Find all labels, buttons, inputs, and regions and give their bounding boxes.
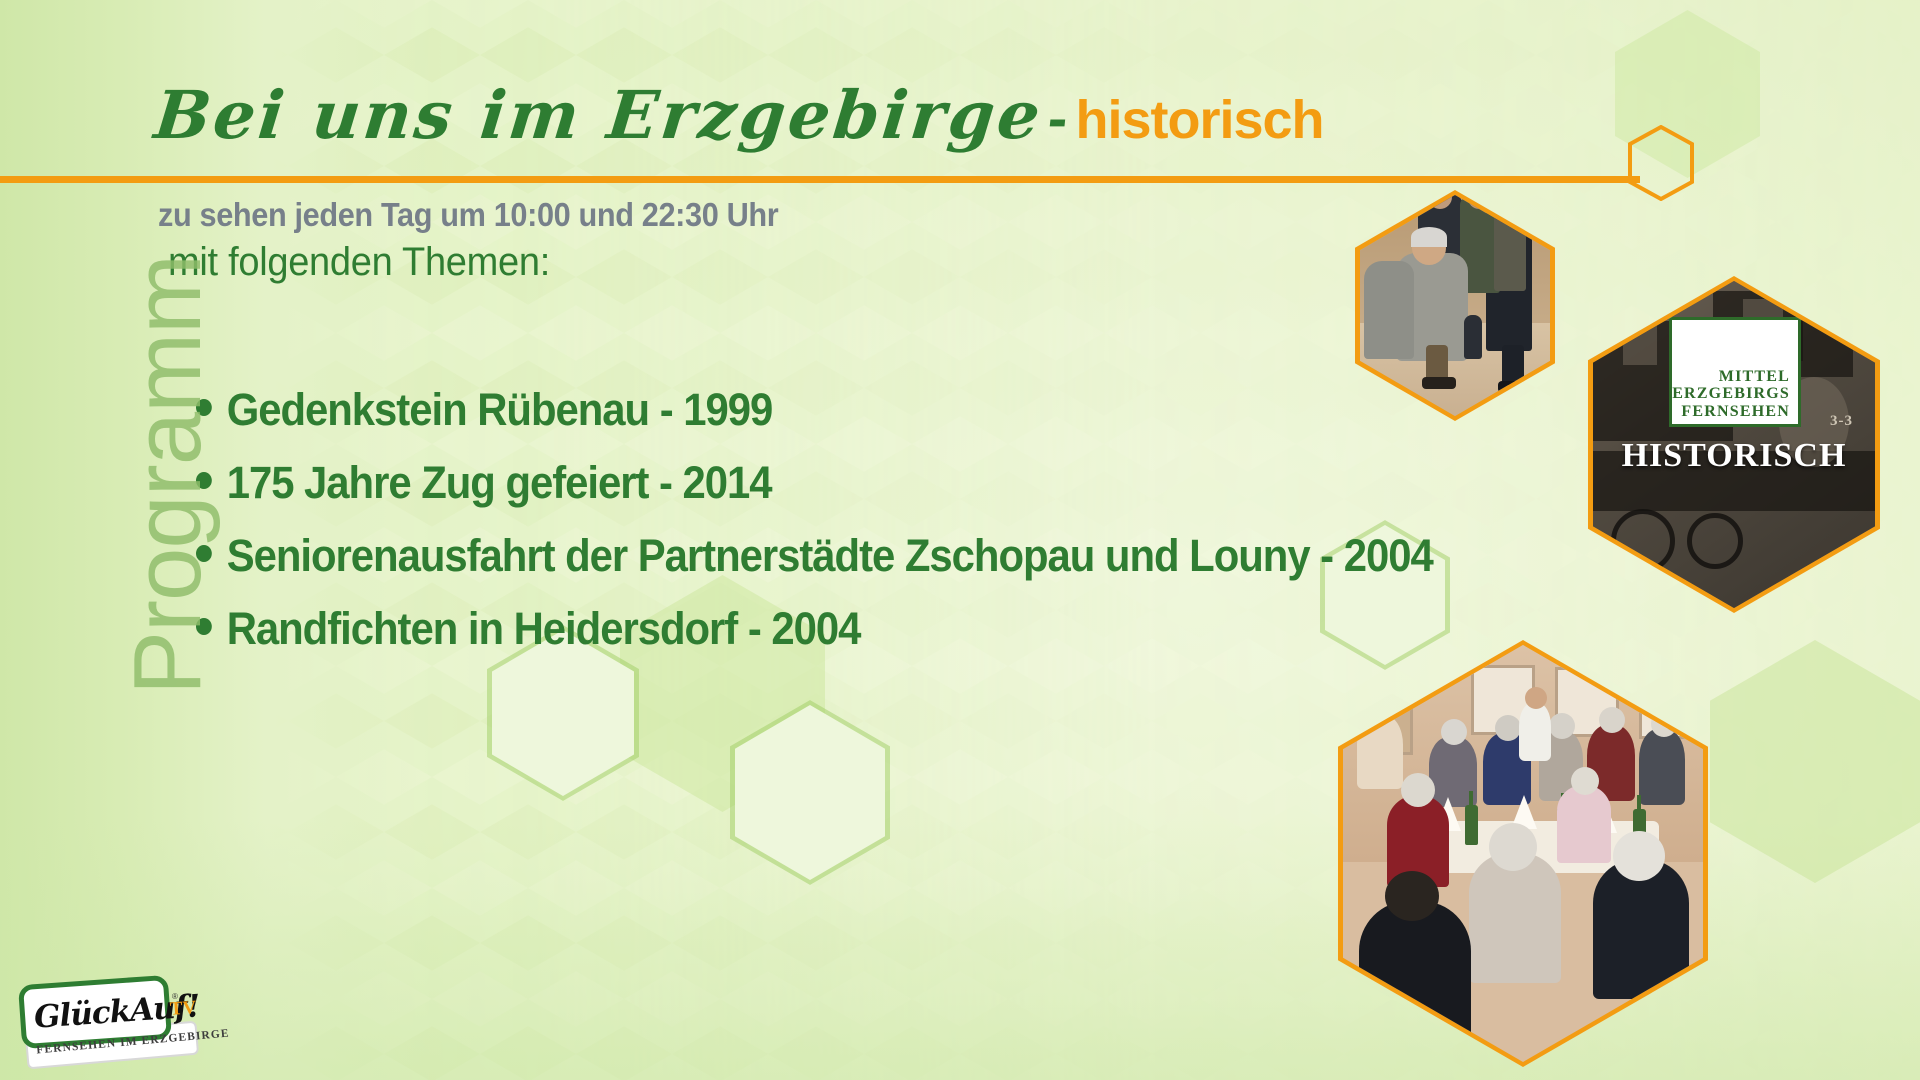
list-item: Randfichten in Heidersdorf - 2004 [196, 603, 1433, 655]
topic-label: Seniorenausfahrt der Partnerstädte Zscho… [227, 530, 1433, 582]
topic-label: Gedenkstein Rübenau - 1999 [227, 384, 773, 436]
page-title-main: Bei uns im Erzgebirge [151, 76, 1047, 154]
page-title-dash: - [1039, 86, 1079, 151]
broadcast-times-subtitle: zu sehen jeden Tag um 10:00 und 22:30 Uh… [158, 196, 778, 234]
topic-label: 175 Jahre Zug gefeiert - 2014 [227, 457, 772, 509]
list-item: Gedenkstein Rübenau - 1999 [196, 384, 1433, 436]
locomotive-number-label: 3-3 [1830, 413, 1853, 430]
page-title: Bei uns im Erzgebirge-historisch [151, 76, 1328, 154]
topic-label: Randfichten in Heidersdorf - 2004 [227, 603, 861, 655]
logo-tv-label: TV [169, 997, 197, 1021]
list-item: Seniorenausfahrt der Partnerstädte Zscho… [196, 530, 1433, 582]
page-title-accent: historisch [1075, 89, 1323, 151]
decor-hexagon-orange-outline [1628, 125, 1694, 201]
topic-list: Gedenkstein Rübenau - 1999 175 Jahre Zug… [196, 384, 1526, 676]
card-line-3: FERNSEHEN [1681, 403, 1790, 420]
card-line-1: MITTEL [1719, 368, 1790, 385]
themes-label: mit folgenden Themen: [168, 240, 550, 285]
title-underline-rule [0, 176, 1640, 183]
slide-canvas: Bei uns im Erzgebirge-historisch zu sehe… [0, 0, 1920, 1080]
sidebar-label-programm: Programm [113, 125, 223, 825]
mittel-erzgebirgs-fernsehen-card: MITTEL ERZGEBIRGS FERNSEHEN [1669, 317, 1801, 427]
historisch-caption: HISTORISCH [1593, 437, 1875, 475]
card-line-2: ERZGEBIRGS [1672, 385, 1790, 402]
glueckauf-tv-logo: GlückAuf! ® TV FERNSEHEN IM ERZGEBIRGE [20, 980, 198, 1064]
list-item: 175 Jahre Zug gefeiert - 2014 [196, 457, 1433, 509]
